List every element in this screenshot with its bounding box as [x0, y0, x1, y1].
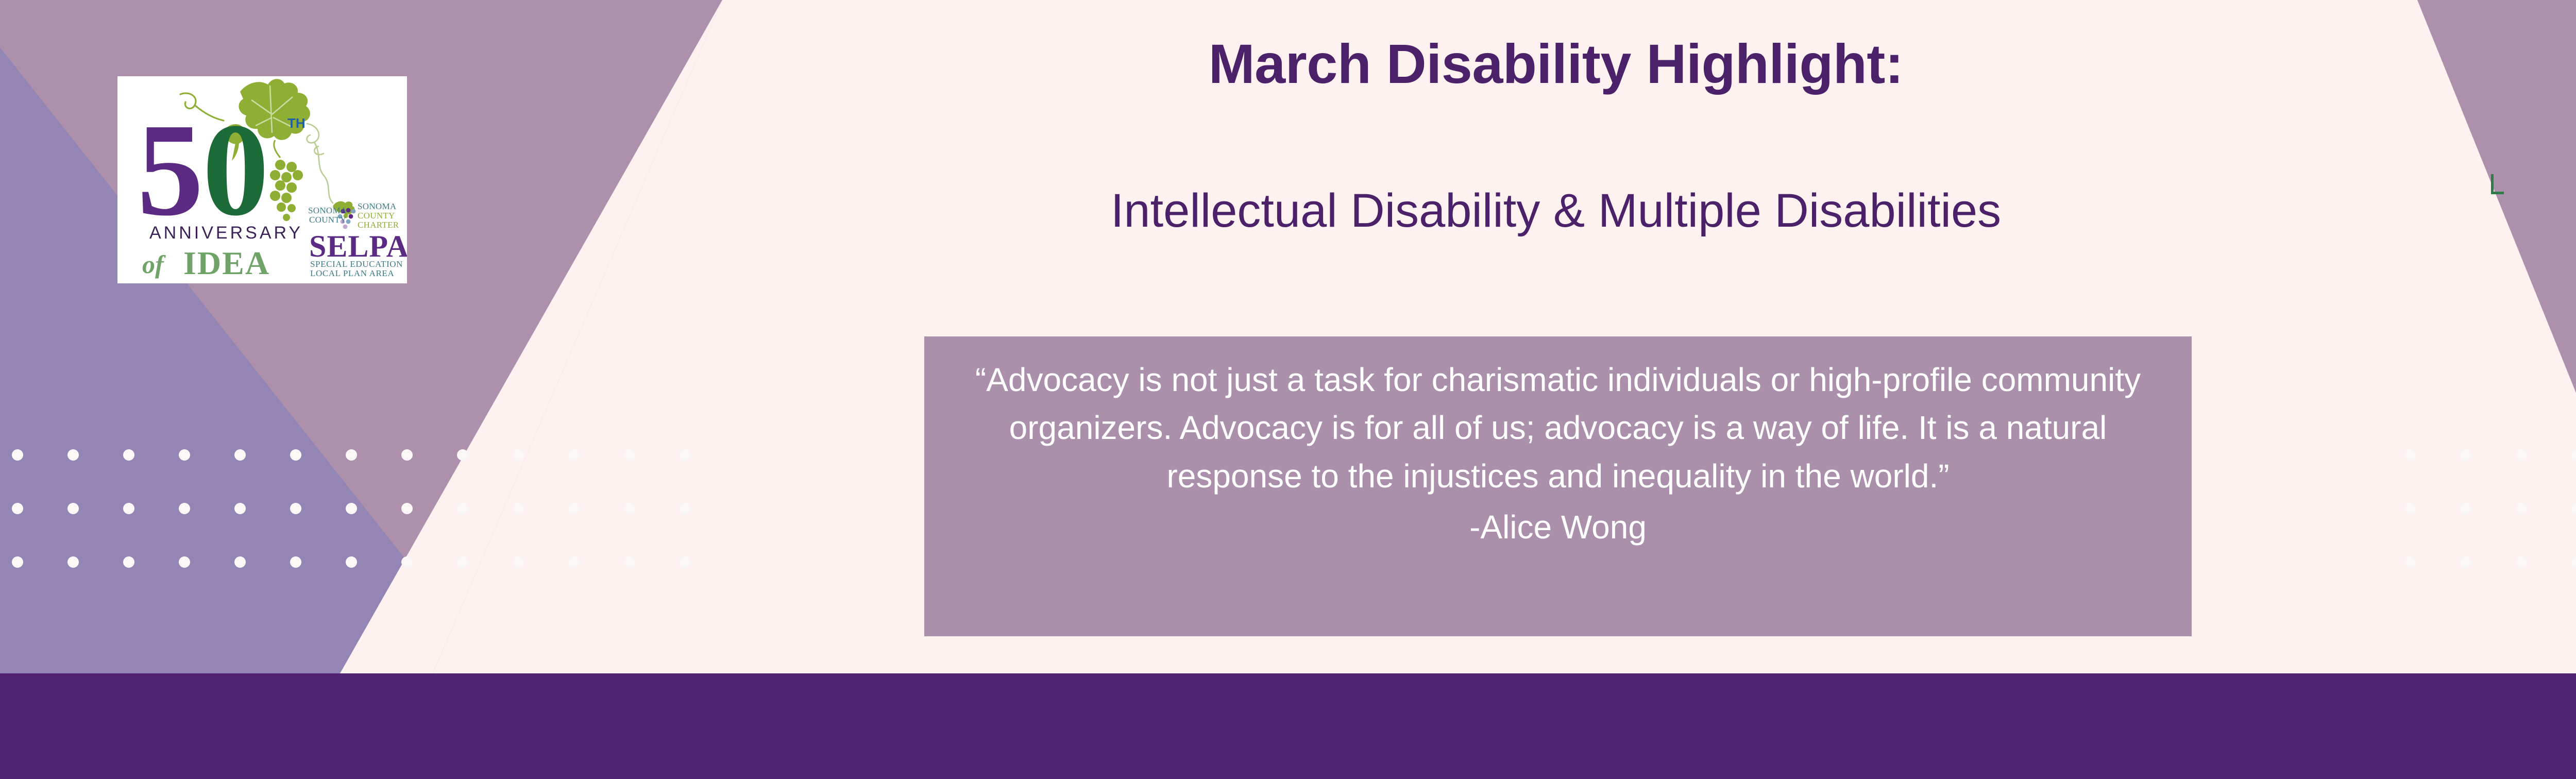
disability-highlight-banner: 5 0 TH ANNIVERSARY of IDEA: [0, 0, 2576, 779]
selpa-logo: SONOMA COUNTY SONOMA COUNTY CHARTER SELP…: [308, 201, 407, 278]
of-word: of: [142, 250, 166, 279]
page-title: March Disability Highlight:: [526, 31, 2576, 96]
selpa-sonoma-left: SONOMA: [308, 206, 347, 215]
selpa-county-right: COUNTY: [358, 211, 395, 221]
quote-text: “Advocacy is not just a task for charism…: [947, 356, 2169, 500]
selpa-expansion-line-1: SPECIAL EDUCATION: [310, 259, 403, 269]
quote-card: “Advocacy is not just a task for charism…: [924, 336, 2192, 636]
quote-attribution: -Alice Wong: [947, 503, 2169, 551]
idea-acronym: IDEA: [183, 245, 270, 281]
anniversary-number-0: 0: [202, 96, 269, 243]
ordinal-suffix-th: TH: [287, 115, 306, 131]
dot-grid-left: [0, 441, 732, 574]
anniversary-word: ANNIVERSARY: [149, 223, 303, 243]
footer-bar: [0, 673, 2576, 779]
dot-grid-right: [2385, 441, 2576, 574]
selpa-charter-right: CHARTER: [358, 220, 399, 230]
selpa-expansion-line-2: LOCAL PLAN AREA: [310, 268, 394, 278]
anniversary-number-5: 5: [137, 96, 204, 243]
selpa-acronym: SELPA: [309, 229, 407, 263]
idea-50th-anniversary-logo: 5 0 TH ANNIVERSARY of IDEA: [117, 76, 407, 283]
selpa-county-left: COUNTY: [309, 215, 347, 225]
page-subtitle: Intellectual Disability & Multiple Disab…: [526, 183, 2576, 239]
selpa-sonoma-right: SONOMA: [358, 201, 397, 211]
